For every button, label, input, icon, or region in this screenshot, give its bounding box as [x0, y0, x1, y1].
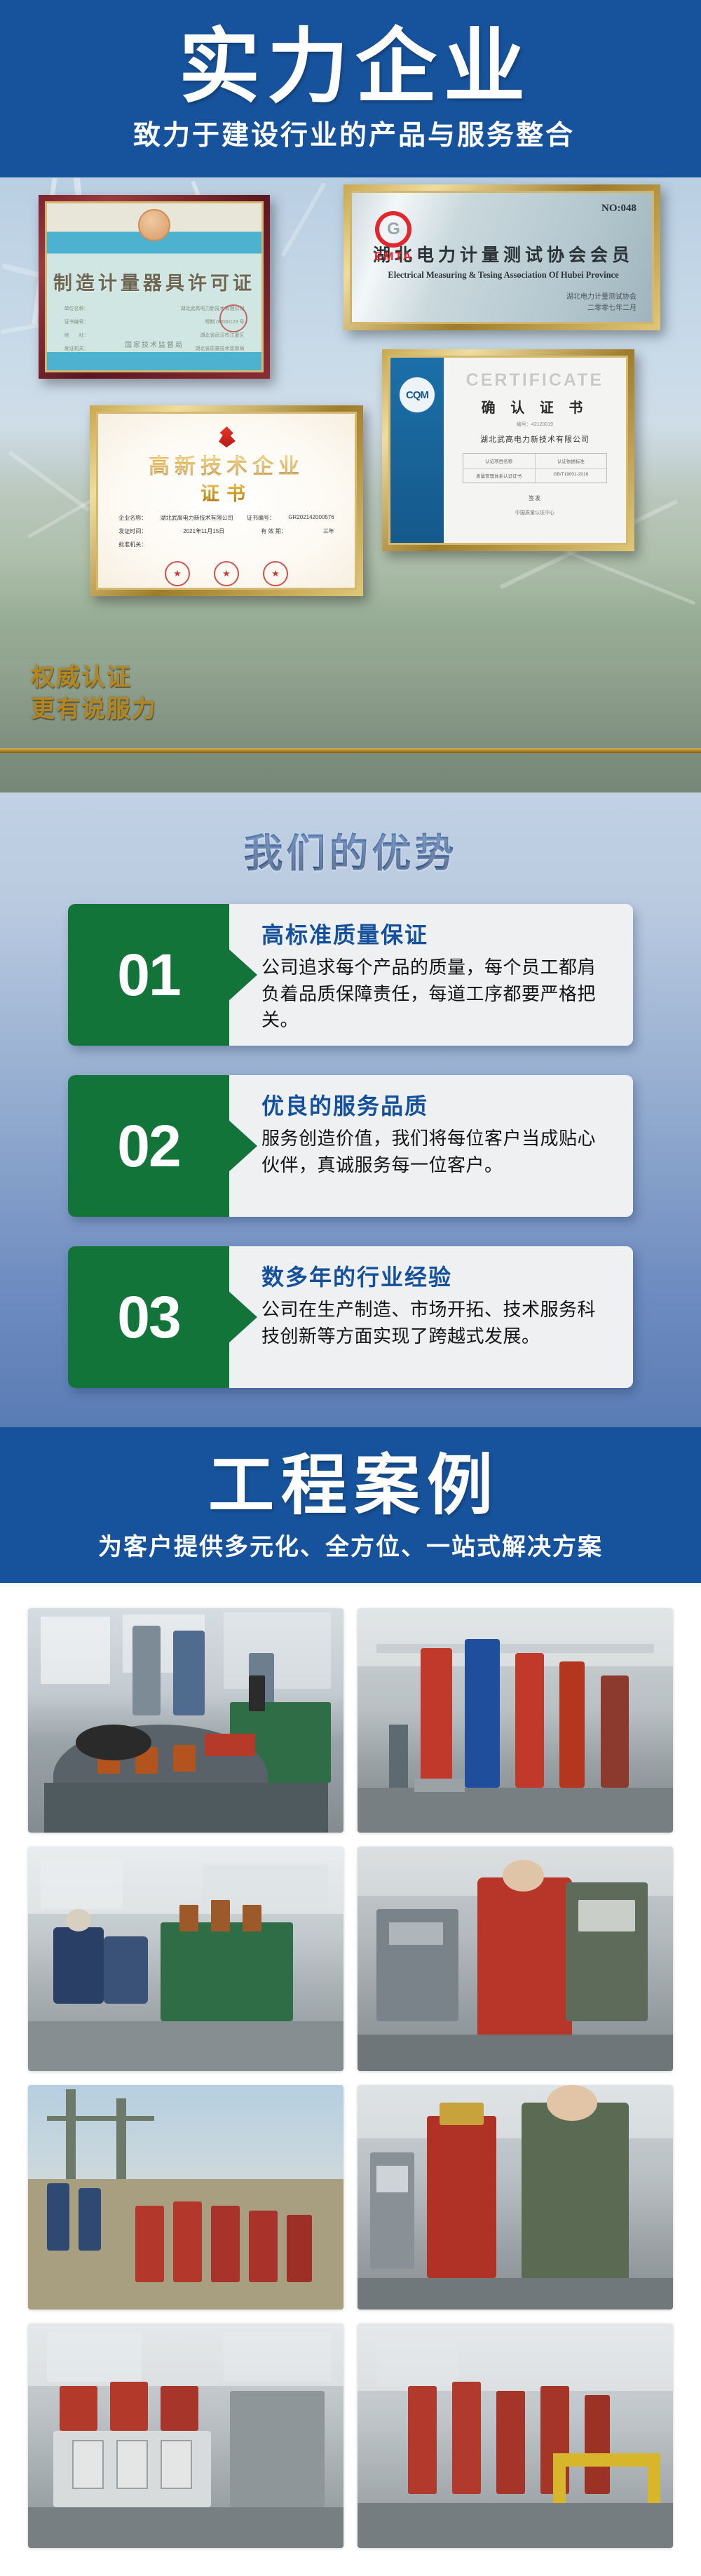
emta-ring-icon: G	[375, 211, 411, 248]
certificate-issuer: 国家技术监督局	[125, 339, 184, 349]
field-label: 发证机关：	[64, 345, 88, 352]
product-detail-page: 实力企业 致力于建设行业的产品与服务整合 制造计量器具许可证 单位名称： 湖北武	[0, 0, 701, 2576]
advantage-number: 03	[117, 1283, 179, 1351]
emta-logo: G EMTA	[374, 211, 413, 264]
advantage-heading: 高标准质量保证	[261, 921, 613, 949]
certificates-banner: 制造计量器具许可证 单位名称： 湖北武高电力新技术有限公司 证书编号： 鄂制 0…	[0, 177, 701, 793]
advantage-description: 公司追求每个产品的质量，每个员工都肩负着品质保障责任，每道工序都要严格把关。	[261, 955, 613, 1034]
advantage-number: 01	[117, 941, 179, 1009]
certificate-title-line2: 证书	[200, 478, 252, 506]
photo-outdoor-substation[interactable]	[28, 2085, 343, 2309]
advantages-title: 我们的优势	[0, 822, 701, 879]
red-seal-icon: ★	[214, 561, 239, 586]
photo-equipment-inspection[interactable]	[358, 2085, 673, 2309]
certificate-title-english: Electrical Measuring & Tesing Associatio…	[370, 270, 637, 281]
photo-onsite-measurement[interactable]	[28, 1847, 343, 2071]
certificate-issuer: 中国质量认证中心	[451, 509, 619, 516]
field-value: 湖北省质量技术监督局	[196, 345, 245, 352]
advantages-section: 我们的优势 01 高标准质量保证 公司追求每个产品的质量，每个员工都肩负着品质保…	[0, 793, 701, 1427]
advantage-card-01: 01 高标准质量保证 公司追求每个产品的质量，每个员工都肩负着品质保障责任，每道…	[68, 904, 633, 1046]
certificate-high-tech-enterprise: 高新技术企业 证书 企业名称： 湖北武高电力新技术有限公司 证书编号： GR20…	[90, 405, 363, 596]
certificate-cqm: CQM CERTIFICATE 确 认 证 书 编号：42120019 湖北武高…	[382, 349, 634, 551]
field-label: 单位名称：	[64, 305, 88, 312]
advantage-number-badge: 01	[68, 904, 229, 1046]
cases-photo-grid	[0, 1583, 701, 2576]
table-header-cell: 认证项目名称	[463, 454, 536, 468]
caption-line-2: 更有说服力	[31, 694, 157, 725]
red-seal-icon	[219, 304, 247, 332]
advantage-description: 公司在生产制造、市场开拓、技术服务科技创新等方面实现了跨越式发展。	[261, 1297, 613, 1349]
certificate-field-row: 地 址： 湖北省武汉市江夏区	[64, 332, 244, 339]
advantage-number: 02	[117, 1112, 179, 1180]
certificate-date: 二零零七年二月	[370, 303, 637, 314]
photo-workshop-assembly[interactable]	[358, 2324, 673, 2548]
field-value: GR202142000576	[288, 514, 334, 522]
advantage-card-02: 02 优良的服务品质 服务创造价值，我们将每位客户当成贴心伙伴，真诚服务每一位客…	[68, 1075, 633, 1217]
certificate-field-row: 证书编号： 鄂制 00000123 号	[64, 318, 244, 325]
red-seal-icon: ★	[263, 561, 288, 586]
certificate-title: 制造计量器具许可证	[53, 268, 255, 295]
photo-hv-test-hall[interactable]	[358, 1608, 673, 1833]
certificate-field-row: 单位名称： 湖北武高电力新技术有限公司	[64, 305, 244, 312]
field-label: 发证时间：	[118, 527, 147, 535]
field-value: 湖北省武汉市江夏区	[200, 332, 245, 339]
certificate-field-row: 批准机关：	[118, 541, 334, 548]
field-label: 证书编号：	[247, 514, 275, 522]
advantage-heading: 数多年的行业经验	[261, 1263, 613, 1291]
certificates-caption: 权威认证 更有说服力	[31, 662, 157, 725]
flame-logo-icon	[217, 426, 236, 447]
caption-line-1: 权威认证	[31, 662, 157, 694]
pylon-decoration	[280, 182, 326, 257]
advantage-number-badge: 02	[68, 1075, 229, 1217]
field-label: 证书编号：	[64, 318, 88, 325]
page-subtitle: 致力于建设行业的产品与服务整合	[133, 114, 575, 153]
certificate-manufacturing-license: 制造计量器具许可证 单位名称： 湖北武高电力新技术有限公司 证书编号： 鄂制 0…	[39, 195, 270, 379]
certificate-emta-member: G EMTA NO:048 湖北电力计量测试协会会员 Electrical Me…	[343, 184, 660, 330]
cases-banner: 工程案例 为客户提供多元化、全方位、一站式解决方案	[0, 1427, 701, 1583]
table-cell: 质量管理体系认证证书	[463, 468, 536, 483]
field-label: 企业名称：	[118, 514, 147, 522]
red-seal-icon: ★	[165, 561, 190, 586]
field-value: 湖北武高电力新技术有限公司	[161, 514, 233, 522]
certificate-field-row: 企业名称： 湖北武高电力新技术有限公司 证书编号： GR202142000576	[118, 514, 334, 522]
certificate-company: 湖北武高电力新技术有限公司	[451, 433, 619, 445]
table-header-cell: 认证依据标准	[536, 454, 607, 468]
field-label: 地 址：	[64, 332, 88, 339]
cases-title: 工程案例	[7, 1451, 701, 1520]
table-header-row: 认证项目名称 认证依据标准	[463, 454, 606, 468]
advantage-number-badge: 03	[68, 1246, 229, 1388]
table-row: 质量管理体系认证证书 GB/T19001-2016	[463, 468, 606, 483]
advantage-description: 服务创造价值，我们将每位客户当成贴心伙伴，真诚服务每一位客户。	[261, 1126, 613, 1178]
certificate-field-row: 发证时间： 2021年11月15日 有 效 期： 三年	[118, 527, 334, 535]
certificate-table: 认证项目名称 认证依据标准 质量管理体系认证证书 GB/T19001-2016	[463, 453, 607, 483]
certificate-title-english: CERTIFICATE	[451, 370, 619, 391]
signature-mark: 签发	[451, 494, 619, 502]
emta-wordmark: EMTA	[374, 250, 413, 264]
table-cell: GB/T19001-2016	[536, 468, 607, 483]
advantage-card-body: 数多年的行业经验 公司在生产制造、市场开拓、技术服务科技创新等方面实现了跨越式发…	[229, 1246, 633, 1388]
certificate-footer-band	[47, 352, 261, 370]
page-title: 实力企业	[179, 25, 532, 110]
national-emblem-icon	[138, 209, 170, 241]
photo-red-uniform-engineer[interactable]	[358, 1847, 673, 2071]
field-label: 有 效 期：	[261, 527, 286, 535]
certificate-title: 确 认 证 书	[451, 396, 619, 417]
advantage-card-body: 高标准质量保证 公司追求每个产品的质量，每个员工都肩负着品质保障责任，每道工序都…	[229, 904, 633, 1046]
advantage-card-03: 03 数多年的行业经验 公司在生产制造、市场开拓、技术服务科技创新等方面实现了跨…	[68, 1246, 633, 1388]
cases-subtitle: 为客户提供多元化、全方位、一站式解决方案	[0, 1528, 701, 1562]
gold-divider-rule	[0, 748, 701, 753]
advantage-heading: 优良的服务品质	[261, 1092, 613, 1120]
pylon-decoration	[8, 450, 90, 511]
cqm-badge-icon: CQM	[398, 376, 436, 414]
photo-transformer-testing[interactable]	[28, 1608, 343, 1833]
certificate-number: 编号：42120019	[451, 421, 619, 428]
advantages-card-list: 01 高标准质量保证 公司追求每个产品的质量，每个员工都肩负着品质保障责任，每道…	[68, 904, 633, 1388]
photo-ct-pt-units[interactable]	[28, 2324, 343, 2548]
advantage-card-body: 优良的服务品质 服务创造价值，我们将每位客户当成贴心伙伴，真诚服务每一位客户。	[229, 1075, 633, 1217]
certificate-signer: 湖北电力计量测试协会	[370, 292, 637, 303]
field-value: 2021年11月15日	[183, 527, 224, 535]
field-label: 批准机关：	[118, 541, 147, 548]
hero-banner: 实力企业 致力于建设行业的产品与服务整合	[0, 0, 701, 177]
certificate-title: 高新技术企业	[149, 449, 304, 480]
field-value: 三年	[323, 527, 334, 535]
cqm-side-band: CQM	[390, 358, 444, 543]
